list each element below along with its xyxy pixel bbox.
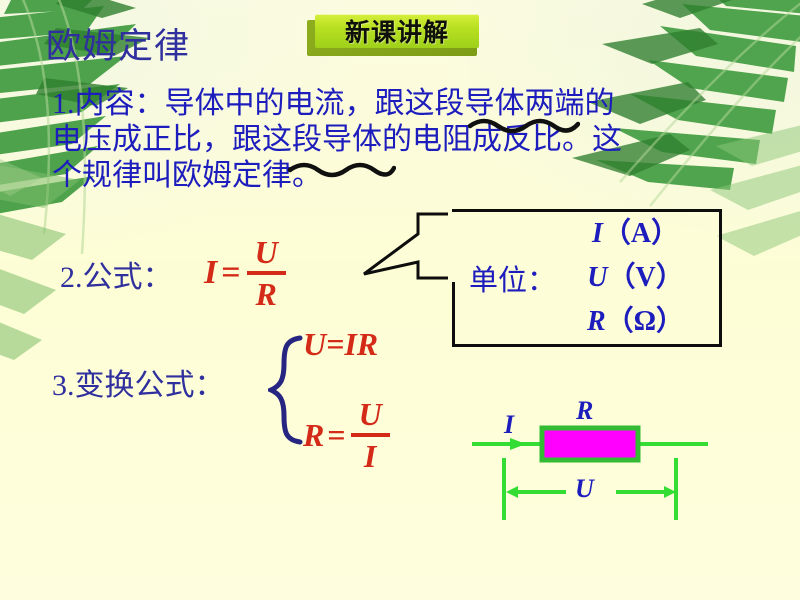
lesson-banner: 新课讲解 <box>307 14 477 54</box>
derived-formula-2: R = U I <box>303 398 390 472</box>
curly-brace-icon <box>268 334 304 446</box>
unit-entry: I（A） <box>592 212 679 256</box>
derived-denominator: I <box>356 437 384 472</box>
page-title: 欧姆定律 <box>46 18 190 69</box>
derived-equals-sign: = <box>327 417 345 454</box>
unit-value: （V） <box>608 262 684 293</box>
circuit-diagram: I R U <box>470 400 710 525</box>
circuit-resistor-label: R <box>576 396 593 426</box>
formula-fraction: U R <box>247 236 286 310</box>
derived-left-side: R <box>303 417 324 454</box>
unit-symbol: U <box>587 262 607 293</box>
units-label: 单位： <box>469 257 556 299</box>
unit-symbol: R <box>587 306 606 337</box>
slide-canvas: 欧姆定律 新课讲解 1.内容：导体中的电流，跟这段导体两端的 电压成正比，跟这段… <box>0 0 800 600</box>
formula-numerator: U <box>247 236 286 271</box>
derived-fraction: U I <box>351 398 390 472</box>
voltage-arrowhead-left <box>506 486 518 498</box>
derived-formula-1: U=IR <box>303 326 378 363</box>
statement-line-1: 1.内容：导体中的电流，跟这段导体两端的 <box>52 86 768 122</box>
formula-left-side: I <box>204 254 217 292</box>
derived-section-label: 3.变换公式： <box>52 360 225 404</box>
formula-equals-sign: = <box>221 254 240 292</box>
units-callout-box: 单位： I（A） U（V） R（Ω） <box>452 209 722 347</box>
resistor-body <box>542 428 638 460</box>
circuit-current-label: I <box>504 410 514 440</box>
statement-line-3: 个规律叫欧姆定律。 <box>52 158 768 194</box>
derived-numerator: U <box>351 398 390 433</box>
formula-denominator: R <box>247 275 284 310</box>
statement-line-2: 电压成正比，跟这段导体的电阻成反比。这 <box>52 122 768 158</box>
callout-pointer-icon <box>362 212 462 284</box>
units-callout-content: 单位： I（A） U（V） R（Ω） <box>455 212 719 344</box>
units-list: I（A） U（V） R（Ω） <box>558 212 719 344</box>
unit-entry: R（Ω） <box>587 300 684 344</box>
ohm-law-formula: I = U R <box>204 236 286 310</box>
circuit-voltage-label: U <box>575 474 594 504</box>
unit-entry: U（V） <box>587 256 683 300</box>
unit-symbol: I <box>592 218 603 249</box>
banner-label: 新课讲解 <box>315 14 479 48</box>
formula-section-label: 2.公式： <box>60 252 173 296</box>
unit-value: （A） <box>603 218 679 249</box>
unit-value: （Ω） <box>606 306 684 337</box>
ohm-law-statement: 1.内容：导体中的电流，跟这段导体两端的 电压成正比，跟这段导体的电阻成反比。这… <box>52 86 768 194</box>
